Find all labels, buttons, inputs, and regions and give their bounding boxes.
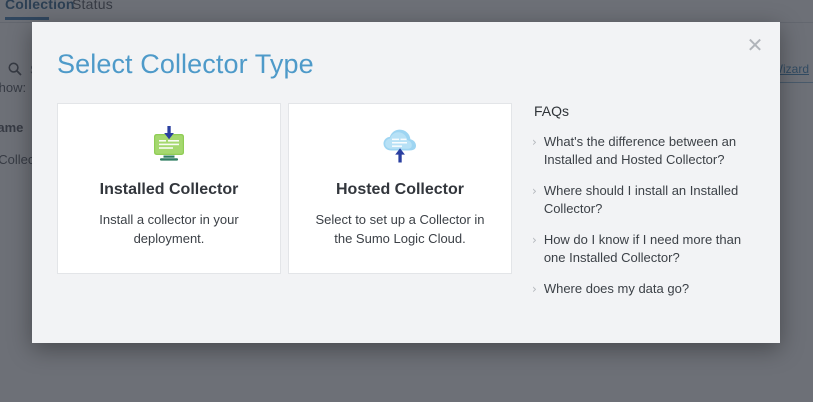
faq-item[interactable]: › Where does my data go? [532,280,756,298]
collector-type-cards: Installed Collector Install a collector … [57,103,512,274]
select-collector-type-dialog: ✕ Select Collector Type [32,22,780,343]
faq-item-label: Where does my data go? [544,280,689,298]
card-description: Select to set up a Collector in the Sumo… [310,210,490,248]
chevron-right-icon: › [532,133,537,151]
card-installed-collector[interactable]: Installed Collector Install a collector … [57,103,281,274]
card-hosted-collector[interactable]: Hosted Collector Select to set up a Coll… [288,103,512,274]
chevron-right-icon: › [532,231,537,249]
card-description: Install a collector in your deployment. [79,210,259,248]
faq-item[interactable]: › How do I know if I need more than one … [532,231,756,267]
faq-heading: FAQs [534,103,756,119]
close-icon[interactable]: ✕ [742,32,768,58]
chevron-right-icon: › [532,280,537,298]
faq-item-label: Where should I install an Installed Coll… [544,182,756,218]
faq-item-label: What's the difference between an Install… [544,133,756,169]
faq-item[interactable]: › What's the difference between an Insta… [532,133,756,169]
installed-collector-icon [145,125,193,169]
faq-panel: FAQs › What's the difference between an … [532,103,756,311]
faq-item[interactable]: › Where should I install an Installed Co… [532,182,756,218]
chevron-right-icon: › [532,182,537,200]
faq-item-label: How do I know if I need more than one In… [544,231,756,267]
card-title: Installed Collector [100,181,239,199]
dialog-title: Select Collector Type [57,49,314,80]
card-title: Hosted Collector [336,181,464,199]
hosted-collector-icon [376,125,424,169]
